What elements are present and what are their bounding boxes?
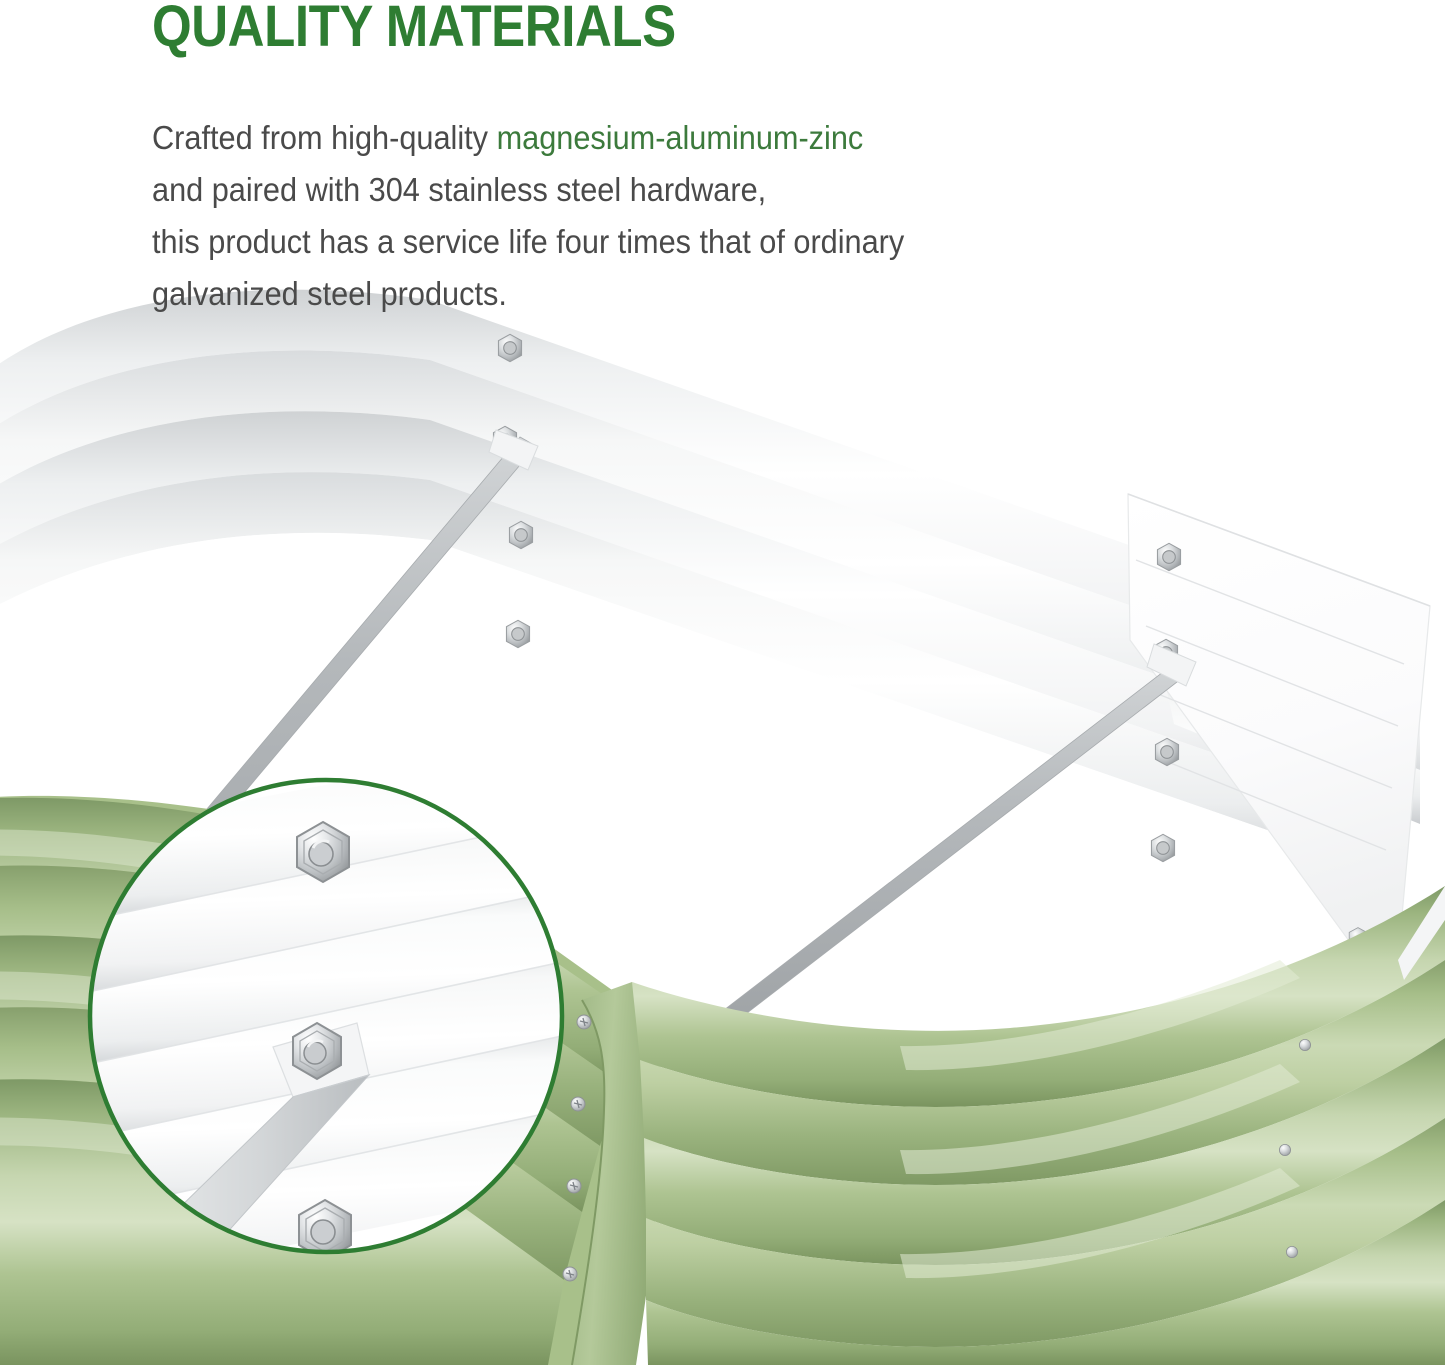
body-copy: Crafted from high-quality magnesium-alum… [152,112,1194,320]
body-line-1-prefix: Crafted from high-quality [152,119,497,156]
detail-callout-magnifier [85,775,567,1257]
body-line-3: this product has a service life four tim… [152,216,1194,268]
body-line-1: Crafted from high-quality magnesium-alum… [152,112,1194,164]
body-line-4: galvanized steel products. [152,268,1194,320]
body-line-2: and paired with 304 stainless steel hard… [152,164,1194,216]
magnifier-svg [85,775,567,1257]
product-marketing-banner: QUALITY MATERIALS Crafted from high-qual… [0,0,1445,1365]
page-title: QUALITY MATERIALS [152,0,676,56]
magnifier-content [85,775,567,1257]
material-highlight: magnesium-aluminum-zinc [497,119,864,156]
